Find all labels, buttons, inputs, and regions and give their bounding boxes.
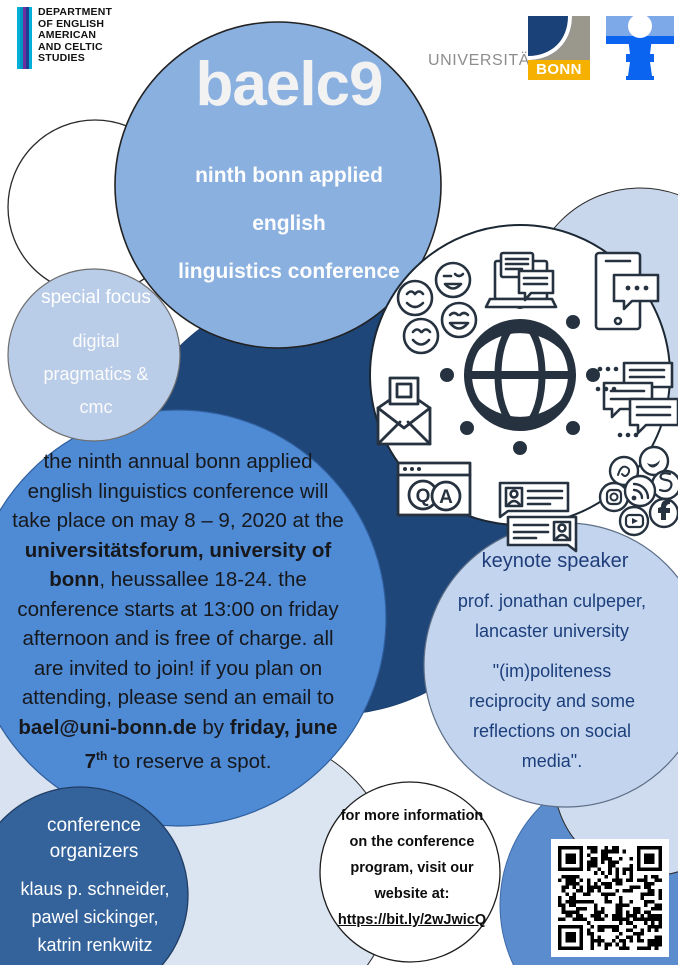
conference-details-paragraph: the ninth annual bonn applied english li… — [12, 447, 344, 776]
keynote-talk-line-4: media". — [424, 746, 678, 776]
special-focus-body: digital pragmatics & cmc — [5, 325, 187, 424]
organizer-name: pawel sickinger, — [0, 903, 190, 931]
poster-title: baelc9 — [139, 54, 439, 116]
poster-subtitle: ninth bonn applied english linguistics c… — [124, 152, 454, 296]
university-bonn-badge-text: BONN — [528, 60, 590, 80]
more-information-block: for more information on the conference p… — [318, 803, 506, 933]
university-bonn-logo: UNIVERSITÄT BONN — [428, 8, 668, 78]
more-info-line-2: on the conference — [318, 829, 506, 855]
conference-website-link[interactable]: https://bit.ly/2wJwicQ — [338, 912, 486, 928]
department-logo-bars — [17, 7, 32, 69]
more-info-line-1: for more information — [318, 803, 506, 829]
special-focus-line-1: digital — [5, 325, 187, 358]
subtitle-line-2: english — [124, 200, 454, 248]
more-info-line-4: website at: — [318, 881, 506, 907]
qa-browser-icon: Q A — [398, 463, 470, 515]
logo-bar-5 — [29, 7, 32, 69]
keynote-heading: keynote speaker — [430, 548, 678, 574]
keynote-speaker-name: prof. jonathan culpeper, — [424, 586, 678, 616]
svg-text:A: A — [439, 487, 453, 508]
organizer-name: katrin renkwitz — [0, 931, 190, 959]
keynote-affiliation: lancaster university — [424, 616, 678, 646]
keynote-body: prof. jonathan culpeper, lancaster unive… — [424, 586, 678, 776]
contact-cards-icon — [500, 483, 576, 551]
qr-code[interactable] — [551, 839, 669, 957]
svg-text:Q: Q — [416, 486, 431, 507]
organizer-name: klaus p. schneider, — [0, 875, 190, 903]
department-logo: DEPARTMENT OF ENGLISH AMERICAN AND CELTI… — [17, 7, 112, 69]
subtitle-line-1: ninth bonn applied — [124, 152, 454, 200]
university-crest-square — [528, 16, 590, 60]
special-focus-line-3: cmc — [5, 391, 187, 424]
conference-poster: Q A — [0, 0, 678, 965]
university-wordmark: UNIVERSITÄT — [428, 52, 540, 70]
organizers-heading-line-1: conference — [4, 813, 184, 839]
special-focus-line-2: pragmatics & — [5, 358, 187, 391]
special-focus-heading: special focus — [11, 286, 181, 310]
department-name: DEPARTMENT OF ENGLISH AMERICAN AND CELTI… — [38, 7, 112, 65]
organizers-heading: conference organizers — [4, 813, 184, 865]
keynote-talk-line-3: reflections on social — [424, 716, 678, 746]
organizers-heading-line-2: organizers — [4, 839, 184, 865]
university-bonn-badge: BONN — [528, 60, 590, 80]
keynote-talk-line-2: reciprocity and some — [424, 686, 678, 716]
keynote-talk-line-1: "(im)politeness — [424, 656, 678, 686]
laptop-chat-icon — [486, 253, 556, 307]
university-figure-icon — [606, 14, 674, 80]
more-info-line-3: program, visit our — [318, 855, 506, 881]
organizers-names: klaus p. schneider, pawel sickinger, kat… — [0, 875, 190, 959]
